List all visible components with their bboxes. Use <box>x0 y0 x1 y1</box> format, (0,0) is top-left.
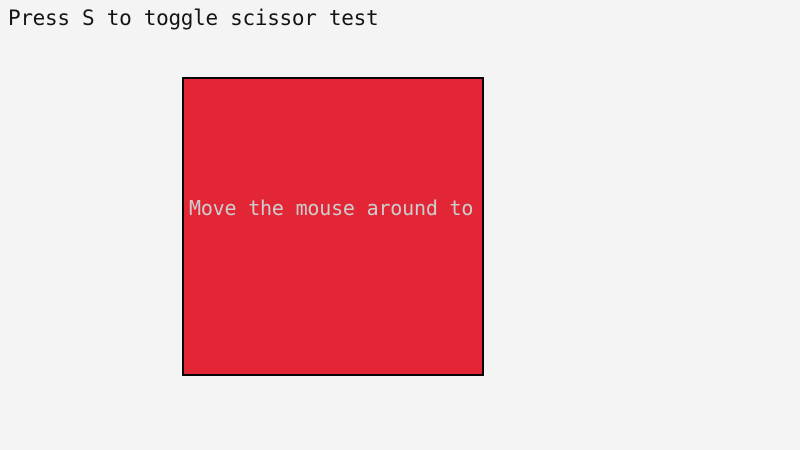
scissor-clip-region: Move the mouse around to r <box>184 79 482 374</box>
scissor-clipped-label: Move the mouse around to r <box>189 197 482 219</box>
scissor-test-rectangle[interactable]: Move the mouse around to r <box>182 77 484 376</box>
app-canvas: Press S to toggle scissor test Move the … <box>0 0 800 450</box>
instruction-text: Press S to toggle scissor test <box>8 6 378 30</box>
